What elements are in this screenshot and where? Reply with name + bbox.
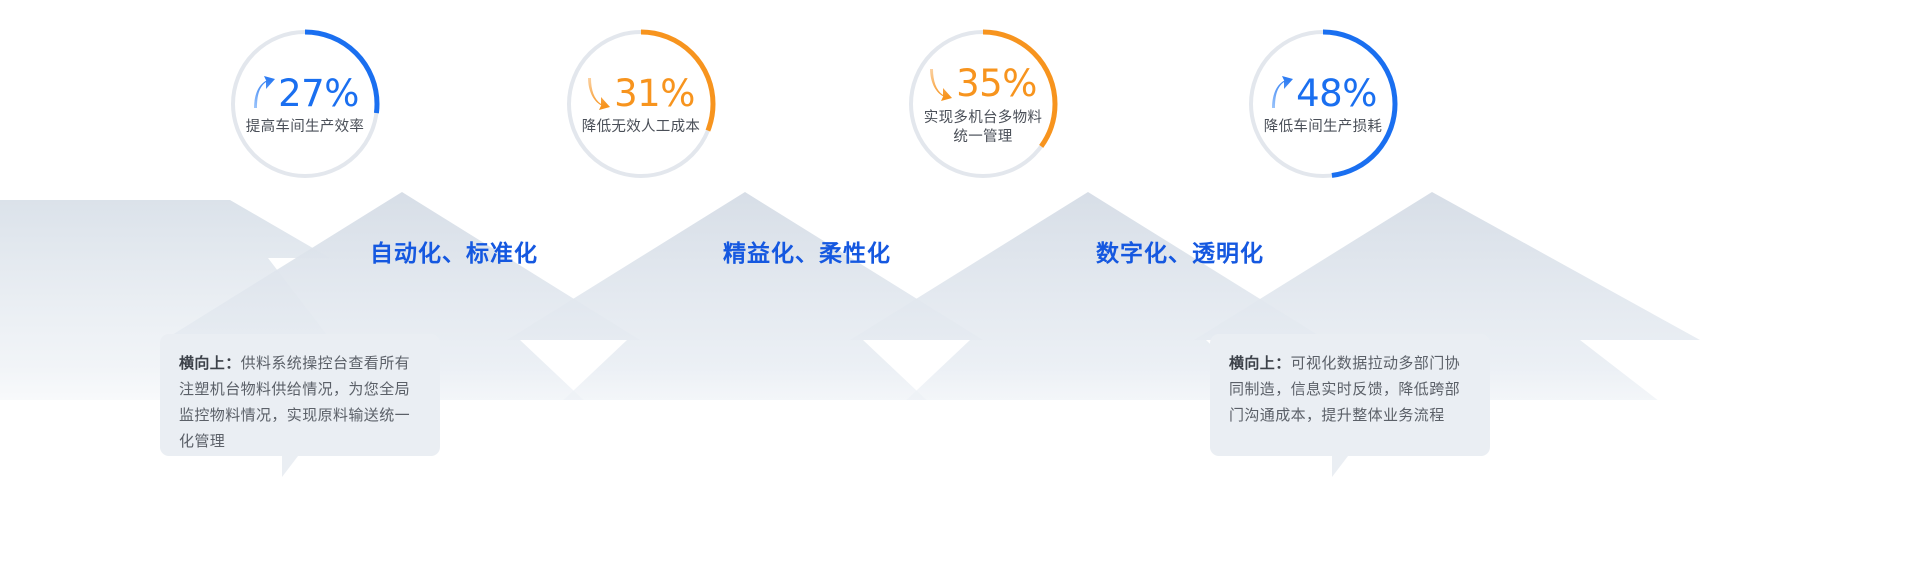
tooltip-material-supply: 横向上：供料系统操控台查看所有注塑机台物料供给情况，为您全局监控物料情况，实现原…: [160, 334, 440, 456]
metric-caption-3: 实现多机台多物料 统一管理: [924, 109, 1042, 147]
arrow-up-icon: [1269, 76, 1295, 110]
metric-value-1: 27%: [278, 75, 359, 112]
metric-card-workshop-efficiency: 27% 提高车间生产效率: [229, 28, 381, 180]
metric-value-3: 35%: [956, 65, 1037, 102]
tooltip-tail-1: [282, 456, 298, 477]
arrow-up-icon: [251, 76, 277, 110]
metric-card-multi-machine-material: 35% 实现多机台多物料 统一管理: [907, 28, 1059, 180]
metric-caption-2: 降低无效人工成本: [582, 118, 700, 137]
stage-label-digitalization: 数字化、透明化: [1096, 240, 1264, 268]
tooltip-cross-department: 横向上：可视化数据拉动多部门协同制造，信息实时反馈，降低跨部门沟通成本，提升整体…: [1210, 334, 1490, 456]
tooltip-lead-2: 横向上：: [1229, 354, 1291, 372]
arrow-down-icon: [587, 76, 613, 110]
metric-caption-1: 提高车间生产效率: [246, 118, 364, 137]
metric-card-ineffective-labor-cost: 31% 降低无效人工成本: [565, 28, 717, 180]
metric-value-2: 31%: [614, 75, 695, 112]
stage-label-automation: 自动化、标准化: [370, 240, 538, 268]
metric-caption-4: 降低车间生产损耗: [1264, 118, 1382, 137]
arrow-down-icon: [929, 67, 955, 101]
stage-label-lean: 精益化、柔性化: [723, 240, 891, 268]
metric-value-4: 48%: [1296, 75, 1377, 112]
infographic-canvas: 27% 提高车间生产效率 31% 降低无效人工成本: [0, 0, 1920, 582]
tooltip-tail-2: [1332, 456, 1348, 477]
metric-card-workshop-loss: 48% 降低车间生产损耗: [1247, 28, 1399, 180]
tooltip-lead-1: 横向上：: [179, 354, 241, 372]
